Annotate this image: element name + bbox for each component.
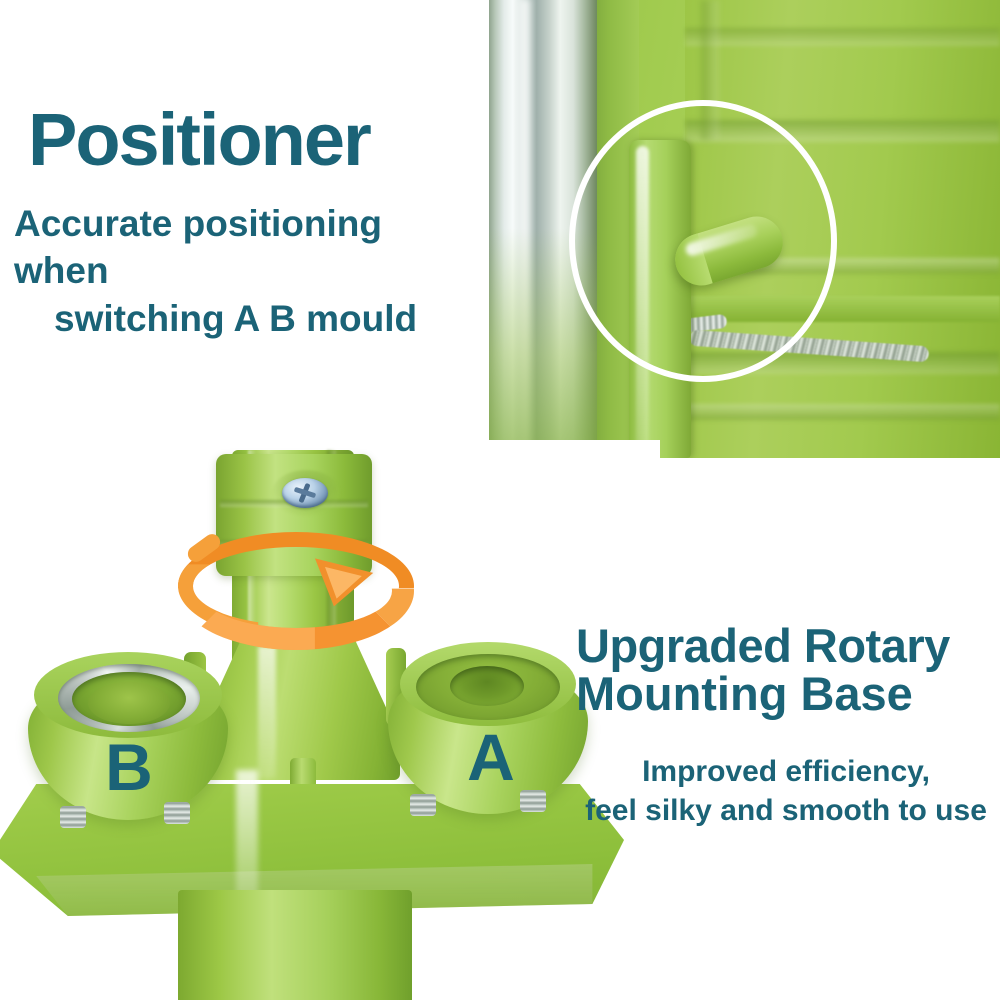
rotary-base-title-line1: Upgraded Rotary [576, 619, 950, 672]
infographic-canvas: Positioner Accurate positioning when swi… [0, 0, 1000, 1000]
socket-spring [410, 794, 436, 816]
mould-socket-b: B [28, 646, 228, 826]
positioner-macro-photo [489, 0, 1000, 458]
rotary-base-subtitle-line2: feel silky and smooth to use [576, 791, 996, 830]
body-band [685, 404, 1000, 420]
socket-hole [450, 666, 524, 706]
body-band [685, 28, 1000, 46]
positioner-title: Positioner [28, 103, 370, 177]
rotary-base-subtitle: Improved efficiency, feel silky and smoo… [576, 752, 996, 830]
rotary-base-title-line2: Mounting Base [576, 670, 996, 718]
rotary-base-subtitle-line1: Improved efficiency, [576, 752, 996, 791]
rotary-base-title: Upgraded Rotary Mounting Base [576, 622, 996, 718]
white-circle-highlight-annotation [569, 100, 837, 382]
rotary-base-product-photo: B A [0, 440, 660, 1000]
socket-spring [164, 802, 190, 824]
socket-spring [60, 806, 86, 828]
mould-socket-a: A [388, 638, 588, 822]
mould-label-a: A [446, 724, 536, 790]
hub-highlight [258, 646, 276, 778]
socket-spring [520, 790, 546, 812]
positioner-subtitle-line2: switching A B mould [14, 295, 484, 342]
positioner-subtitle: Accurate positioning when switching A B … [14, 200, 484, 342]
phillips-screw-icon [282, 478, 328, 508]
socket-cone [88, 682, 170, 724]
base-stem [178, 890, 412, 1000]
mould-label-b: B [84, 734, 174, 800]
positioner-subtitle-line1: Accurate positioning when [14, 203, 382, 291]
